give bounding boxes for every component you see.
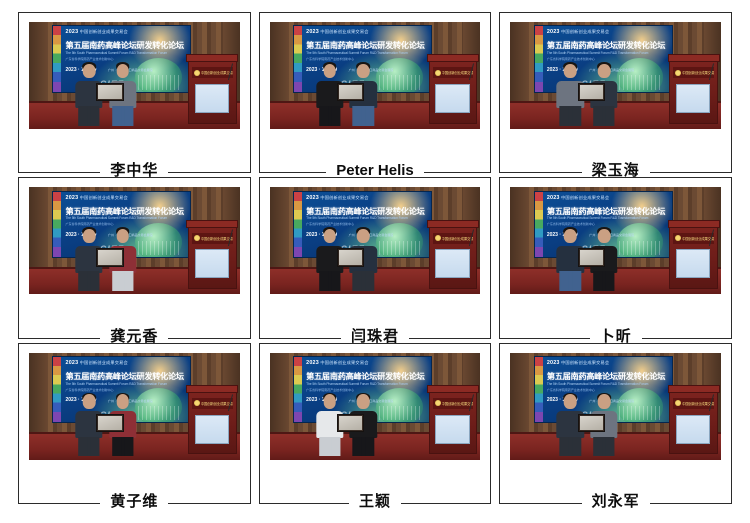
banner-skyline-graphic: [379, 75, 420, 89]
banner-logo: 2023 中国创新创业成果交易会: [306, 360, 368, 366]
ceremony-photo[interactable]: 2023 中国创新创业成果交易会 第五届南药高峰论坛研发转化论坛 The 5th…: [510, 353, 721, 460]
head: [357, 229, 370, 243]
podium-panel: [195, 84, 229, 113]
banner-logo-text: 中国创新创业成果交易会: [80, 195, 128, 200]
photo-grid: 2023 中国创新创业成果交易会 第五届南药高峰论坛研发转化论坛 The 5th…: [18, 12, 732, 504]
recipient-name: 黄子维: [100, 492, 168, 512]
recipient-name: 王颖: [349, 492, 401, 512]
stage-scene: 2023 中国创新创业成果交易会 第五届南药高峰论坛研发转化论坛 The 5th…: [29, 22, 240, 129]
legs: [78, 437, 99, 457]
podium-top: [668, 54, 720, 62]
banner-subtitle-cn: 广东省科学院南药产业技术创新中心: [306, 222, 429, 226]
podium-plate: 中国创新创业成果交易会: [673, 398, 714, 409]
banner-skyline-graphic: [138, 241, 179, 255]
stage-scene: 2023 中国创新创业成果交易会 第五届南药高峰论坛研发转化论坛 The 5th…: [270, 22, 481, 129]
recipient-name: 刘永军: [582, 492, 650, 512]
stage-scene: 2023 中国创新创业成果交易会 第五届南药高峰论坛研发转化论坛 The 5th…: [29, 353, 240, 460]
emblem-icon: [194, 70, 200, 76]
banner-logo-year: 2023: [66, 195, 79, 201]
emblem-icon: [435, 235, 441, 241]
podium-panel: [676, 415, 710, 444]
banner-color-strip: [53, 192, 61, 257]
emblem-icon: [675, 70, 681, 76]
wall-left-shadow: [270, 187, 289, 270]
photo-cell[interactable]: 2023 中国创新创业成果交易会 第五届南药高峰论坛研发转化论坛 The 5th…: [259, 343, 492, 504]
banner-subtitle-en: The 5th South Pharmaceutical Summit Foru…: [547, 216, 670, 220]
award-plaque: [337, 83, 364, 101]
banner-logo-text: 中国创新创业成果交易会: [561, 29, 609, 34]
stage-scene: 2023 中国创新创业成果交易会 第五届南药高峰论坛研发转化论坛 The 5th…: [510, 22, 721, 129]
banner-logo-text: 中国创新创业成果交易会: [320, 29, 368, 34]
legs: [112, 437, 133, 457]
banner-subtitle-cn: 广东省科学院南药产业技术创新中心: [306, 57, 429, 61]
podium-top: [427, 385, 479, 393]
photo-cell[interactable]: 2023 中国创新创业成果交易会 第五届南药高峰论坛研发转化论坛 The 5th…: [499, 177, 732, 338]
head: [116, 394, 129, 408]
banner-title: 第五届南药高峰论坛研发转化论坛: [547, 205, 668, 217]
podium-plate: 中国创新创业成果交易会: [192, 233, 233, 244]
banner-title: 第五届南药高峰论坛研发转化论坛: [66, 205, 187, 217]
podium-top: [186, 54, 238, 62]
wall-left-shadow: [510, 353, 529, 436]
plaque-face: [98, 416, 121, 430]
podium-panel: [676, 249, 710, 278]
podium-top: [427, 54, 479, 62]
caption-row: 黄子维: [19, 491, 250, 513]
head: [357, 394, 370, 408]
emblem-icon: [435, 70, 441, 76]
podium-emblem-text: 中国创新创业成果交易会: [442, 236, 474, 241]
podium-emblem-text: 中国创新创业成果交易会: [442, 70, 474, 75]
banner-logo: 2023 中国创新创业成果交易会: [66, 360, 128, 366]
award-plaque: [578, 414, 605, 432]
stage-scene: 2023 中国创新创业成果交易会 第五届南药高峰论坛研发转化论坛 The 5th…: [270, 187, 481, 294]
banner-title: 第五届南药高峰论坛研发转化论坛: [547, 39, 668, 51]
banner-color-strip: [535, 357, 543, 422]
legs: [319, 271, 340, 291]
legs: [593, 271, 614, 291]
stage-scene: 2023 中国创新创业成果交易会 第五届南药高峰论坛研发转化论坛 The 5th…: [510, 187, 721, 294]
photo-cell[interactable]: 2023 中国创新创业成果交易会 第五届南药高峰论坛研发转化论坛 The 5th…: [18, 12, 251, 173]
head: [598, 64, 611, 78]
ceremony-photo[interactable]: 2023 中国创新创业成果交易会 第五届南药高峰论坛研发转化论坛 The 5th…: [270, 353, 481, 460]
wall-left-shadow: [29, 353, 48, 436]
banner-skyline-graphic: [138, 75, 179, 89]
banner-subtitle-cn: 广东省科学院南药产业技术创新中心: [547, 388, 670, 392]
banner-logo-year: 2023: [66, 29, 79, 35]
photo-cell[interactable]: 2023 中国创新创业成果交易会 第五届南药高峰论坛研发转化论坛 The 5th…: [499, 343, 732, 504]
banner-color-strip: [294, 26, 302, 91]
ceremony-photo[interactable]: 2023 中国创新创业成果交易会 第五届南药高峰论坛研发转化论坛 The 5th…: [510, 22, 721, 129]
speaker-podium: 中国创新创业成果交易会: [429, 223, 477, 289]
banner-title: 第五届南药高峰论坛研发转化论坛: [547, 370, 668, 382]
banner-title: 第五届南药高峰论坛研发转化论坛: [306, 370, 427, 382]
plaque-face: [339, 416, 362, 430]
banner-logo-text: 中国创新创业成果交易会: [80, 360, 128, 365]
plaque-face: [580, 416, 603, 430]
wall-left-shadow: [510, 187, 529, 270]
banner-subtitle-cn: 广东省科学院南药产业技术创新中心: [66, 57, 189, 61]
plaque-face: [98, 250, 121, 264]
ceremony-photo[interactable]: 2023 中国创新创业成果交易会 第五届南药高峰论坛研发转化论坛 The 5th…: [29, 22, 240, 129]
banner-color-strip: [53, 357, 61, 422]
legs: [593, 437, 614, 457]
banner-skyline-graphic: [379, 406, 420, 420]
plaque-face: [339, 250, 362, 264]
wall-left-shadow: [270, 22, 289, 105]
award-plaque: [578, 248, 605, 266]
banner-subtitle-en: The 5th South Pharmaceutical Summit Foru…: [66, 51, 189, 55]
head: [598, 394, 611, 408]
banner-subtitle-en: The 5th South Pharmaceutical Summit Foru…: [66, 216, 189, 220]
podium-plate: 中国创新创业成果交易会: [433, 233, 474, 244]
head: [598, 229, 611, 243]
banner-title: 第五届南药高峰论坛研发转化论坛: [66, 39, 187, 51]
ceremony-photo[interactable]: 2023 中国创新创业成果交易会 第五届南药高峰论坛研发转化论坛 The 5th…: [270, 187, 481, 294]
wall-left-shadow: [270, 353, 289, 436]
caption-row: 王颖: [260, 491, 491, 513]
banner-skyline-graphic: [619, 75, 660, 89]
podium-top: [668, 220, 720, 228]
speaker-podium: 中国创新创业成果交易会: [669, 388, 717, 454]
wall-left-shadow: [510, 22, 529, 105]
legs: [353, 271, 374, 291]
banner-logo: 2023 中国创新创业成果交易会: [306, 195, 368, 201]
head: [357, 64, 370, 78]
banner-skyline-graphic: [379, 241, 420, 255]
banner-subtitle-cn: 广东省科学院南药产业技术创新中心: [547, 222, 670, 226]
banner-skyline-graphic: [619, 241, 660, 255]
banner-title: 第五届南药高峰论坛研发转化论坛: [306, 205, 427, 217]
podium-panel: [195, 249, 229, 278]
legs: [560, 437, 581, 457]
award-plaque: [337, 414, 364, 432]
head: [83, 229, 96, 243]
podium-plate: 中国创新创业成果交易会: [192, 398, 233, 409]
speaker-podium: 中国创新创业成果交易会: [188, 57, 236, 123]
head: [116, 229, 129, 243]
speaker-podium: 中国创新创业成果交易会: [669, 57, 717, 123]
podium-top: [186, 220, 238, 228]
head: [83, 64, 96, 78]
banner-color-strip: [535, 26, 543, 91]
banner-logo: 2023 中国创新创业成果交易会: [547, 29, 609, 35]
banner-logo: 2023 中国创新创业成果交易会: [547, 195, 609, 201]
podium-plate: 中国创新创业成果交易会: [192, 67, 233, 78]
photo-cell[interactable]: 2023 中国创新创业成果交易会 第五届南药高峰论坛研发转化论坛 The 5th…: [259, 12, 492, 173]
podium-emblem-text: 中国创新创业成果交易会: [442, 401, 474, 406]
speaker-podium: 中国创新创业成果交易会: [188, 388, 236, 454]
wall-left-shadow: [29, 187, 48, 270]
head: [564, 394, 577, 408]
emblem-icon: [675, 235, 681, 241]
photo-cell[interactable]: 2023 中国创新创业成果交易会 第五届南药高峰论坛研发转化论坛 The 5th…: [499, 12, 732, 173]
plaque-face: [580, 250, 603, 264]
legs: [112, 106, 133, 126]
plaque-face: [98, 85, 121, 99]
emblem-icon: [194, 400, 200, 406]
banner-logo-text: 中国创新创业成果交易会: [561, 360, 609, 365]
photo-cell[interactable]: 2023 中国创新创业成果交易会 第五届南药高峰论坛研发转化论坛 The 5th…: [259, 177, 492, 338]
banner-logo-year: 2023: [66, 360, 79, 366]
banner-logo: 2023 中国创新创业成果交易会: [547, 360, 609, 366]
photo-cell[interactable]: 2023 中国创新创业成果交易会 第五届南药高峰论坛研发转化论坛 The 5th…: [18, 177, 251, 338]
podium-plate: 中国创新创业成果交易会: [433, 398, 474, 409]
banner-logo-text: 中国创新创业成果交易会: [561, 195, 609, 200]
ceremony-photo[interactable]: 2023 中国创新创业成果交易会 第五届南药高峰论坛研发转化论坛 The 5th…: [510, 187, 721, 294]
banner-logo-text: 中国创新创业成果交易会: [80, 29, 128, 34]
speaker-podium: 中国创新创业成果交易会: [669, 223, 717, 289]
podium-panel: [435, 415, 469, 444]
award-plaque: [578, 83, 605, 101]
banner-subtitle-en: The 5th South Pharmaceutical Summit Foru…: [547, 51, 670, 55]
plaque-face: [580, 85, 603, 99]
legs: [353, 106, 374, 126]
banner-subtitle-en: The 5th South Pharmaceutical Summit Foru…: [306, 382, 429, 386]
banner-title: 第五届南药高峰论坛研发转化论坛: [66, 370, 187, 382]
banner-subtitle-cn: 广东省科学院南药产业技术创新中心: [66, 222, 189, 226]
banner-color-strip: [53, 26, 61, 91]
ceremony-photo[interactable]: 2023 中国创新创业成果交易会 第五届南药高峰论坛研发转化论坛 The 5th…: [270, 22, 481, 129]
podium-panel: [435, 249, 469, 278]
banner-subtitle-en: The 5th South Pharmaceutical Summit Foru…: [306, 216, 429, 220]
legs: [112, 271, 133, 291]
banner-subtitle-en: The 5th South Pharmaceutical Summit Foru…: [66, 382, 189, 386]
legs: [560, 106, 581, 126]
award-plaque: [96, 83, 123, 101]
podium-plate: 中国创新创业成果交易会: [673, 67, 714, 78]
legs: [319, 106, 340, 126]
banner-subtitle-en: The 5th South Pharmaceutical Summit Foru…: [547, 382, 670, 386]
head: [323, 394, 336, 408]
banner-subtitle-cn: 广东省科学院南药产业技术创新中心: [66, 388, 189, 392]
banner-logo-text: 中国创新创业成果交易会: [320, 360, 368, 365]
photo-collage-page: 2023 中国创新创业成果交易会 第五届南药高峰论坛研发转化论坛 The 5th…: [0, 0, 750, 523]
banner-color-strip: [294, 192, 302, 257]
award-plaque: [96, 248, 123, 266]
banner-logo: 2023 中国创新创业成果交易会: [66, 195, 128, 201]
legs: [593, 106, 614, 126]
wall-left-shadow: [29, 22, 48, 105]
legs: [78, 106, 99, 126]
legs: [560, 271, 581, 291]
banner-title: 第五届南药高峰论坛研发转化论坛: [306, 39, 427, 51]
podium-top: [427, 220, 479, 228]
emblem-icon: [675, 400, 681, 406]
banner-logo: 2023 中国创新创业成果交易会: [306, 29, 368, 35]
plaque-face: [339, 85, 362, 99]
speaker-podium: 中国创新创业成果交易会: [429, 388, 477, 454]
award-plaque: [96, 414, 123, 432]
award-plaque: [337, 248, 364, 266]
banner-color-strip: [535, 192, 543, 257]
stage-scene: 2023 中国创新创业成果交易会 第五届南药高峰论坛研发转化论坛 The 5th…: [510, 353, 721, 460]
banner-subtitle-en: The 5th South Pharmaceutical Summit Foru…: [306, 51, 429, 55]
banner-skyline-graphic: [138, 406, 179, 420]
head: [564, 229, 577, 243]
head: [116, 64, 129, 78]
podium-panel: [195, 415, 229, 444]
ceremony-photo[interactable]: 2023 中国创新创业成果交易会 第五届南药高峰论坛研发转化论坛 The 5th…: [29, 353, 240, 460]
podium-emblem-text: 中国创新创业成果交易会: [201, 401, 233, 406]
banner-logo-year: 2023: [306, 195, 319, 201]
head: [323, 229, 336, 243]
stage-scene: 2023 中国创新创业成果交易会 第五届南药高峰论坛研发转化论坛 The 5th…: [29, 187, 240, 294]
podium-panel: [676, 84, 710, 113]
banner-logo-year: 2023: [306, 29, 319, 35]
banner-color-strip: [294, 357, 302, 422]
emblem-icon: [194, 235, 200, 241]
head: [323, 64, 336, 78]
banner-subtitle-cn: 广东省科学院南药产业技术创新中心: [547, 57, 670, 61]
banner-logo-year: 2023: [547, 29, 560, 35]
podium-panel: [435, 84, 469, 113]
banner-logo: 2023 中国创新创业成果交易会: [66, 29, 128, 35]
emblem-icon: [435, 400, 441, 406]
stage-scene: 2023 中国创新创业成果交易会 第五届南药高峰论坛研发转化论坛 The 5th…: [270, 353, 481, 460]
podium-plate: 中国创新创业成果交易会: [433, 67, 474, 78]
podium-emblem-text: 中国创新创业成果交易会: [201, 70, 233, 75]
podium-top: [668, 385, 720, 393]
ceremony-photo[interactable]: 2023 中国创新创业成果交易会 第五届南药高峰论坛研发转化论坛 The 5th…: [29, 187, 240, 294]
banner-skyline-graphic: [619, 406, 660, 420]
legs: [319, 437, 340, 457]
speaker-podium: 中国创新创业成果交易会: [188, 223, 236, 289]
head: [564, 64, 577, 78]
podium-emblem-text: 中国创新创业成果交易会: [201, 236, 233, 241]
banner-logo-text: 中国创新创业成果交易会: [320, 195, 368, 200]
caption-row: 刘永军: [500, 491, 731, 513]
legs: [353, 437, 374, 457]
banner-logo-year: 2023: [547, 195, 560, 201]
podium-top: [186, 385, 238, 393]
speaker-podium: 中国创新创业成果交易会: [429, 57, 477, 123]
banner-logo-year: 2023: [306, 360, 319, 366]
photo-cell[interactable]: 2023 中国创新创业成果交易会 第五届南药高峰论坛研发转化论坛 The 5th…: [18, 343, 251, 504]
head: [83, 394, 96, 408]
banner-subtitle-cn: 广东省科学院南药产业技术创新中心: [306, 388, 429, 392]
podium-plate: 中国创新创业成果交易会: [673, 233, 714, 244]
legs: [78, 271, 99, 291]
banner-logo-year: 2023: [547, 360, 560, 366]
